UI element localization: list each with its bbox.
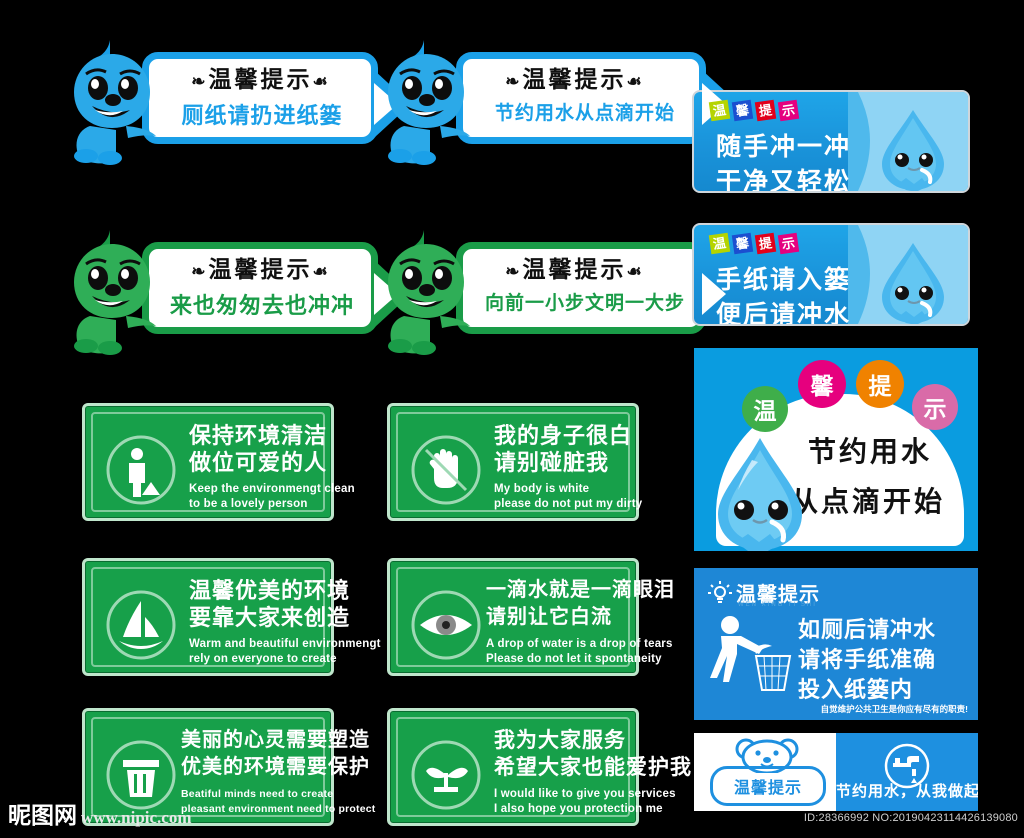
tag-ti: 提 xyxy=(755,233,776,254)
flourish-right: ☙ xyxy=(313,72,331,91)
sign-en-line2: Please do not let it spontaneity xyxy=(486,652,626,667)
sign-drop-of-water[interactable]: 一滴水就是一滴眼泪 请别让它白流 A drop of water is a dr… xyxy=(387,558,639,676)
banner-toilet-paper[interactable]: ❧温馨提示☙ 厕纸请扔进纸篓 xyxy=(64,34,394,174)
strip-line1: 手纸请入篓 xyxy=(716,260,851,296)
banner-come-and-go[interactable]: ❧温馨提示☙ 来也匆匆去也冲冲 xyxy=(64,224,394,364)
sign-cn-line2: 做位可爱的人 xyxy=(189,449,321,476)
watermark-logo: 昵图网 xyxy=(8,796,77,830)
sign-cn-line2: 请别碰脏我 xyxy=(494,449,626,476)
poster-bubble-ti: 提 xyxy=(856,360,904,408)
sign-text-block: 一滴水就是一滴眼泪 请别让它白流 A drop of water is a dr… xyxy=(486,577,626,667)
tag-wen: 温 xyxy=(709,233,730,254)
poster-bubble-xin: 馨 xyxy=(798,360,846,408)
sprout-icon xyxy=(408,737,484,813)
watermark-left: 昵图网 www.nipic.com xyxy=(8,796,192,830)
poster-sheet-canvas: ❧温馨提示☙ 厕纸请扔进纸篓 ❧温馨提示☙ 节约用水从点滴开始 xyxy=(0,0,1024,838)
sign-body-white[interactable]: 我的身子很白 请别碰脏我 My body is white please do … xyxy=(387,403,639,521)
flourish-left: ❧ xyxy=(191,262,208,281)
strip-line1: 随手冲一冲 xyxy=(716,127,851,163)
banner-one-small-step[interactable]: ❧温馨提示☙ 向前一小步文明一大步 xyxy=(378,224,678,364)
sign-en-line2: pleasant environment need to protect xyxy=(181,802,321,817)
strip-line2: 干净又轻松 xyxy=(716,162,851,193)
sign-en-line1: I would like to give you services xyxy=(494,787,626,802)
sign-en-line1: Beatiful minds need to create xyxy=(181,787,321,802)
flourish-right: ☙ xyxy=(627,262,645,281)
sign-en-line1: A drop of water is a drop of tears xyxy=(486,637,626,652)
flush-line3: 投入纸篓内 xyxy=(798,672,913,704)
sign-cn-line1: 保持环境清洁 xyxy=(189,422,321,449)
flourish-left: ❧ xyxy=(505,72,522,91)
poster-save-water[interactable]: 温 馨 提 示 节约用水 从点滴开始 xyxy=(694,348,978,551)
sailboat-icon xyxy=(103,587,179,663)
water-drop-mascot-icon xyxy=(378,34,474,166)
poster-bubble-wen: 温 xyxy=(742,386,788,432)
strip-flush-quick[interactable]: 温 馨 提 示 随手冲一冲 干净又轻松 xyxy=(692,90,970,193)
sign-cn-line1: 我为大家服务 xyxy=(494,727,626,754)
eye-icon xyxy=(408,587,484,663)
sign-text-block: 我为大家服务 希望大家也能爱护我 I would like to give yo… xyxy=(494,727,626,817)
wenxin-tag-group: 温 馨 提 示 xyxy=(710,234,798,253)
sign-beautiful-environment[interactable]: 温馨优美的环境 要靠大家来创造 Warm and beautiful envir… xyxy=(82,558,334,676)
wenxin-tag-group: 温 馨 提 示 xyxy=(710,101,798,120)
sign-text-block: 美丽的心灵需要塑造 优美的环境需要保护 Beatiful minds need … xyxy=(181,727,321,817)
person-throwing-trash-icon xyxy=(706,614,798,694)
strip-line2: 便后请冲水 xyxy=(716,295,851,326)
tag-shi: 示 xyxy=(778,100,799,121)
sign-cn-line1: 一滴水就是一滴眼泪 xyxy=(486,577,626,604)
sign-cn-line1: 我的身子很白 xyxy=(494,422,626,449)
water-drop-mascot-icon xyxy=(64,34,160,166)
banner-slogan: 厕纸请扔进纸篓 xyxy=(146,98,378,130)
banner-slogan: 节约用水从点滴开始 xyxy=(462,98,708,125)
sign-cn-line2: 希望大家也能爱护我 xyxy=(494,754,626,781)
sign-cn-line2: 优美的环境需要保护 xyxy=(181,754,321,781)
sign-en-line2: to be a lovely person xyxy=(189,497,321,512)
sign-en-line2: please do not put my dirty xyxy=(494,497,626,512)
banner-title: ❧温馨提示☙ xyxy=(156,60,366,94)
sign-en-line1: My body is white xyxy=(494,482,626,497)
tag-shi: 示 xyxy=(778,233,799,254)
strip-paper-in-basket[interactable]: 温 馨 提 示 手纸请入篓 便后请冲水 xyxy=(692,223,970,326)
bear-panel: 温馨提示 xyxy=(694,733,836,811)
sign-text-block: 我的身子很白 请别碰脏我 My body is white please do … xyxy=(494,422,626,512)
flush-line1: 如厕后请冲水 xyxy=(798,612,936,644)
banner-title: ❧温馨提示☙ xyxy=(470,250,680,284)
banner-title: ❧温馨提示☙ xyxy=(470,60,680,94)
flourish-right: ☙ xyxy=(313,262,331,281)
water-drop-mascot-icon xyxy=(876,241,950,325)
sign-cn-line1: 美丽的心灵需要塑造 xyxy=(181,727,321,754)
sign-bear-save-water[interactable]: 温馨提示 节约用水，从我做起！ xyxy=(694,733,978,811)
hand-stop-icon xyxy=(408,432,484,508)
banner-slogan: 向前一小步文明一大步 xyxy=(462,288,708,315)
poster-line2: 从点滴开始 xyxy=(790,480,945,520)
flourish-left: ❧ xyxy=(505,262,522,281)
tag-xin: 馨 xyxy=(732,100,753,121)
tag-wen: 温 xyxy=(709,100,730,121)
banner-title: ❧温馨提示☙ xyxy=(156,250,366,284)
tag-ti: 提 xyxy=(755,100,776,121)
leaf-mascot-icon xyxy=(64,224,160,356)
watermark-id: ID:28366992 NO:20190423114426139080 xyxy=(804,812,1018,824)
sign-keep-clean[interactable]: 保持环境清洁 做位可爱的人 Keep the environmengt clea… xyxy=(82,403,334,521)
sign-serve-everyone[interactable]: 我为大家服务 希望大家也能爱护我 I would like to give yo… xyxy=(387,708,639,826)
sign-en-line1: Warm and beautiful environmengt xyxy=(189,637,321,652)
sign-en-line1: Keep the environmengt clean xyxy=(189,482,321,497)
tag-xin: 馨 xyxy=(732,233,753,254)
banner-slogan: 来也匆匆去也冲冲 xyxy=(146,288,378,320)
sign-text-block: 温馨优美的环境 要靠大家来创造 Warm and beautiful envir… xyxy=(189,577,321,667)
sign-en-line2: rely on everyone to create xyxy=(189,652,321,667)
sign-cn-line2: 要靠大家来创造 xyxy=(189,604,321,631)
flourish-right: ☙ xyxy=(627,72,645,91)
poster-bubble-shi: 示 xyxy=(912,384,958,430)
sign-flush-instructions[interactable]: 温馨提示 WEN XING TI SHI 如厕后请冲水 请将手纸准确 投入纸篓内… xyxy=(694,568,978,720)
faucet-slogan: 节约用水，从我做起！ xyxy=(836,780,978,801)
sign-cn-line1: 温馨优美的环境 xyxy=(189,577,321,604)
person-toilet-icon xyxy=(103,432,179,508)
flush-footer: 自觉维护公共卫生是你应有尽有的职责! xyxy=(821,703,968,715)
sign-text-block: 保持环境清洁 做位可爱的人 Keep the environmengt clea… xyxy=(189,422,321,512)
watermark-url: www.nipic.com xyxy=(81,808,192,828)
water-drop-mascot-icon xyxy=(876,108,950,192)
water-drop-mascot-icon xyxy=(708,434,812,551)
leaf-mascot-icon xyxy=(378,224,474,356)
faucet-panel: 节约用水，从我做起！ xyxy=(836,733,978,811)
lightbulb-icon xyxy=(708,581,732,605)
flourish-left: ❧ xyxy=(191,72,208,91)
poster-line1: 节约用水 xyxy=(808,430,932,470)
flush-line2: 请将手纸准确 xyxy=(798,642,936,674)
sign-cn-line2: 请别让它白流 xyxy=(486,604,626,631)
sign-en-line2: I also hope you protection me xyxy=(494,802,626,817)
flush-pinyin: WEN XING TI SHI xyxy=(738,602,817,608)
bear-badge: 温馨提示 xyxy=(710,766,826,806)
banner-save-water[interactable]: ❧温馨提示☙ 节约用水从点滴开始 xyxy=(378,34,678,174)
